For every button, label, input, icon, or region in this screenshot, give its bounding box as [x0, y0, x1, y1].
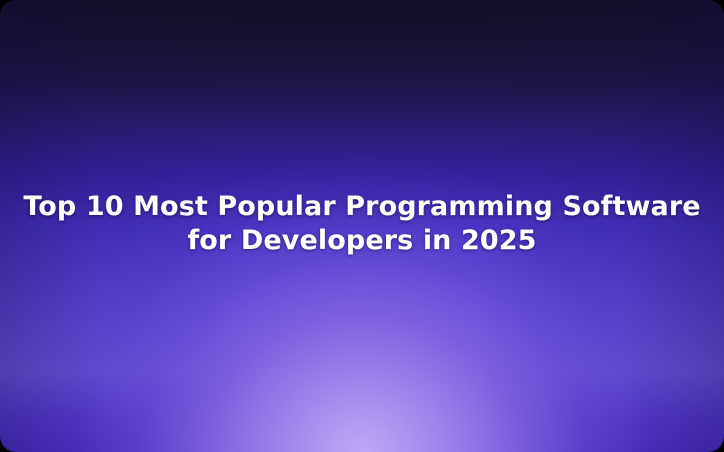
slide-title-line-1: Top 10 Most Popular Programming Software	[23, 190, 700, 224]
title-slide-card: Top 10 Most Popular Programming Software…	[0, 0, 724, 452]
slide-title-block: Top 10 Most Popular Programming Software…	[0, 190, 724, 258]
slide-title-line-2: for Developers in 2025	[187, 224, 536, 258]
